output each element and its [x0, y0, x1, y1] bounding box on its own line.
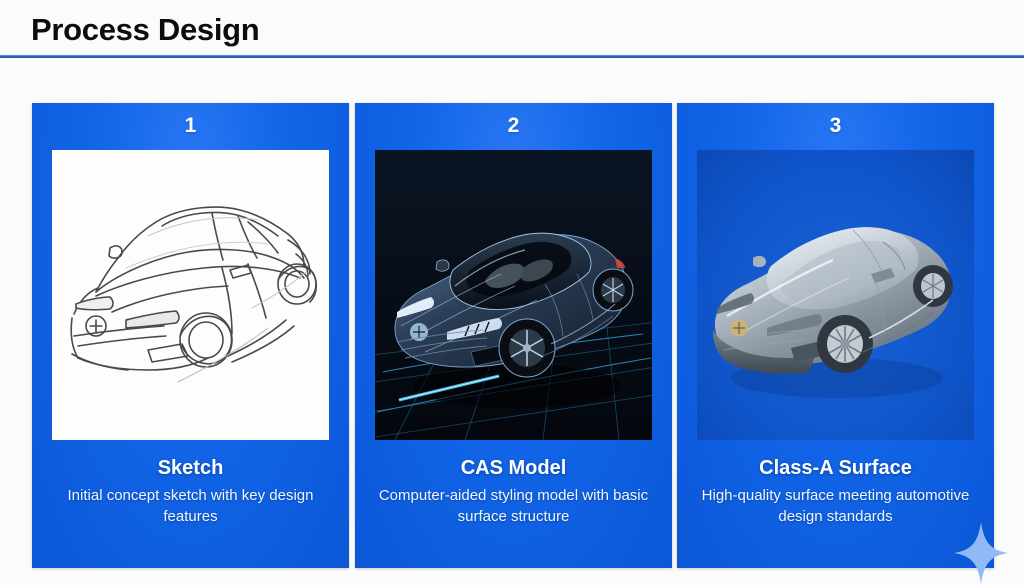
card-title-3: Class-A Surface [687, 455, 984, 481]
card-caption-1: Sketch Initial concept sketch with key d… [42, 455, 339, 527]
process-step-card-2[interactable]: 2 [355, 103, 672, 568]
card-caption-2: CAS Model Computer-aided styling model w… [365, 455, 662, 527]
card-description-1: Initial concept sketch with key design f… [42, 485, 339, 527]
sketch-car-illustration [52, 150, 329, 440]
card-caption-3: Class-A Surface High-quality surface mee… [687, 455, 984, 527]
process-step-card-3[interactable]: 3 [677, 103, 994, 568]
step-number-1: 1 [32, 114, 349, 138]
card-description-2: Computer-aided styling model with basic … [365, 485, 662, 527]
step-number-2: 2 [355, 114, 672, 138]
page-title: Process Design [31, 11, 259, 49]
slide-header: Process Design [0, 0, 1024, 59]
process-step-card-1[interactable]: 1 [32, 103, 349, 568]
card-title-1: Sketch [42, 455, 339, 481]
title-divider [0, 55, 1024, 58]
process-steps-row: 1 [0, 103, 1024, 569]
card-description-3: High-quality surface meeting automotive … [687, 485, 984, 527]
sparkle-icon [954, 522, 1008, 584]
cas-model-car-render [375, 150, 652, 440]
card-title-2: CAS Model [365, 455, 662, 481]
step-number-3: 3 [677, 114, 994, 138]
class-a-surface-car-render [697, 150, 974, 440]
